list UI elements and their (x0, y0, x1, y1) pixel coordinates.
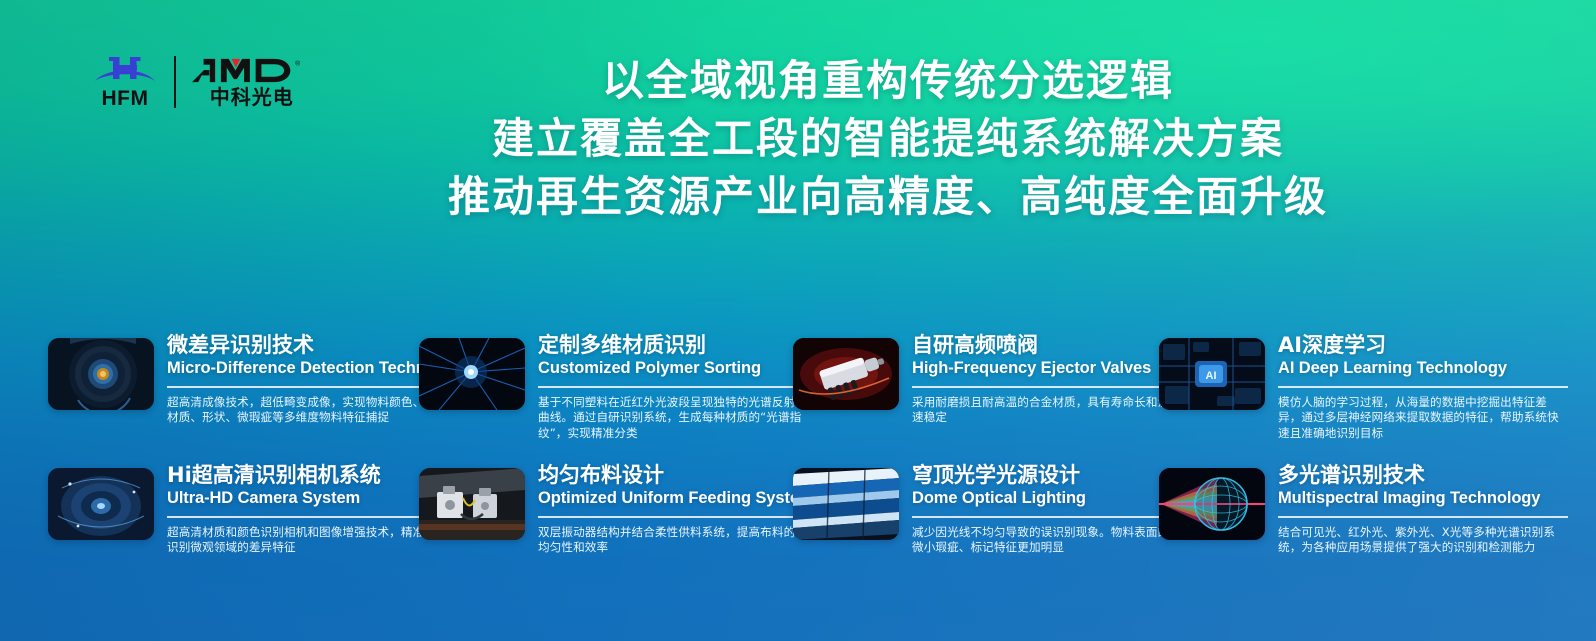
card-title-en: Ultra-HD Camera System (167, 488, 435, 509)
dome-light-icon (793, 468, 899, 540)
card-title-en: Customized Polymer Sorting (538, 358, 806, 379)
card-description: 双层振动器结构并结合柔性供料系统，提高布料的均匀性和效率 (538, 525, 806, 556)
headline-line-3: 推动再生资源产业向高精度、高纯度全面升级 (0, 168, 1596, 226)
card-description: 模仿人脑的学习过程，从海量的数据中挖掘出特征差异，通过多层神经网络来提取数据的特… (1278, 395, 1568, 442)
feature-card[interactable]: 均匀布料设计 Optimized Uniform Feeding System … (419, 460, 809, 556)
feature-card[interactable]: 多光谱识别技术 Multispectral Imaging Technology… (1159, 460, 1549, 556)
headline-line-1: 以全域视角重构传统分选逻辑 (0, 52, 1596, 110)
ejector-valve-icon (793, 338, 899, 410)
card-divider (538, 386, 793, 388)
feature-card[interactable]: Hi超高清识别相机系统 Ultra-HD Camera System 超高清材质… (48, 460, 438, 556)
page-headline: 以全域视角重构传统分选逻辑 建立覆盖全工段的智能提纯系统解决方案 推动再生资源产… (0, 52, 1596, 226)
card-divider (167, 386, 422, 388)
feature-card[interactable]: 自研高频喷阀 High-Frequency Ejector Valves 采用耐… (793, 330, 1183, 426)
feature-card[interactable]: 微差异识别技术 Micro-Difference Detection Techn… (48, 330, 438, 426)
card-description: 减少因光线不均匀导致的误识别现象。物料表面的微小瑕疵、标记特征更加明显 (912, 525, 1180, 556)
ai-chip-icon: AI (1159, 338, 1265, 410)
card-divider (1278, 516, 1568, 518)
card-title-cn: Hi超高清识别相机系统 (167, 462, 435, 488)
camera-lens-icon (48, 338, 154, 410)
card-description: 采用耐磨损且耐高温的合金材质，具有寿命长和流速稳定 (912, 395, 1180, 426)
card-title-cn: 微差异识别技术 (167, 332, 435, 358)
feature-card[interactable]: AI AI深度学习 AI Deep Learning Technology 模仿… (1159, 330, 1549, 441)
feature-card-grid: 微差异识别技术 Micro-Difference Detection Techn… (0, 330, 1596, 590)
spectrum-sphere-icon (1159, 468, 1265, 540)
card-title-en: High-Frequency Ejector Valves (912, 358, 1180, 379)
card-divider (1278, 386, 1568, 388)
card-title-cn: 定制多维材质识别 (538, 332, 806, 358)
card-title-cn: AI深度学习 (1278, 332, 1568, 358)
card-description: 结合可见光、红外光、紫外光、X光等多种光谱识别系统，为各种应用场景提供了强大的识… (1278, 525, 1568, 556)
card-title-en: Multispectral Imaging Technology (1278, 488, 1568, 509)
card-divider (167, 516, 422, 518)
card-divider (912, 386, 1167, 388)
feeder-machine-icon (419, 468, 525, 540)
feature-row-bottom: Hi超高清识别相机系统 Ultra-HD Camera System 超高清材质… (0, 460, 1596, 590)
card-title-en: AI Deep Learning Technology (1278, 358, 1568, 379)
card-description: 超高清成像技术，超低畸变成像，实现物料颜色、材质、形状、微瑕疵等多维度物料特征捕… (167, 395, 435, 426)
card-description: 基于不同塑料在近红外光波段呈现独特的光谱反射曲线。通过自研识别系统，生成每种材质… (538, 395, 806, 442)
card-divider (912, 516, 1167, 518)
feature-card[interactable]: 穹顶光学光源设计 Dome Optical Lighting 减少因光线不均匀导… (793, 460, 1183, 556)
light-burst-icon (419, 338, 525, 410)
card-title-en: Micro-Difference Detection Technology (167, 358, 435, 379)
card-title-cn: 自研高频喷阀 (912, 332, 1180, 358)
card-title-cn: 均匀布料设计 (538, 462, 806, 488)
card-description: 超高清材质和颜色识别相机和图像增强技术，精准识别微观领域的差异特征 (167, 525, 435, 556)
card-title-en: Dome Optical Lighting (912, 488, 1180, 509)
headline-line-2: 建立覆盖全工段的智能提纯系统解决方案 (0, 110, 1596, 168)
svg-text:AI: AI (1206, 370, 1217, 382)
feature-card[interactable]: 定制多维材质识别 Customized Polymer Sorting 基于不同… (419, 330, 809, 441)
hd-camera-icon (48, 468, 154, 540)
card-title-cn: 多光谱识别技术 (1278, 462, 1568, 488)
card-divider (538, 516, 793, 518)
card-title-en: Optimized Uniform Feeding System (538, 488, 806, 509)
feature-row-top: 微差异识别技术 Micro-Difference Detection Techn… (0, 330, 1596, 460)
card-title-cn: 穹顶光学光源设计 (912, 462, 1180, 488)
